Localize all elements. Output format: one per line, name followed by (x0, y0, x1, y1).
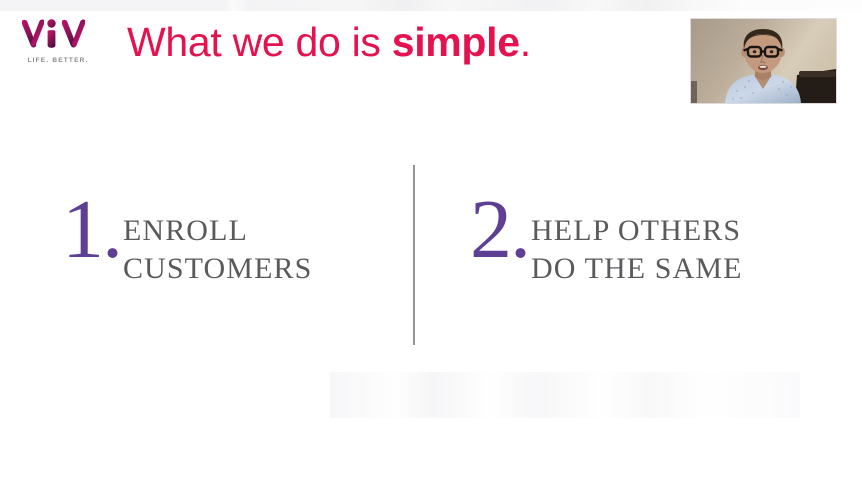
top-ghost-band (0, 0, 862, 11)
presenter-video-frame (691, 19, 836, 103)
step-item-2: 2. HELP OTHERS DO THE SAME (470, 202, 743, 289)
title-regular-text: What we do is (127, 19, 392, 65)
viv-logo-mark (16, 18, 100, 54)
step-number-1: 1. (62, 196, 121, 265)
presenter-video-thumbnail[interactable] (690, 18, 837, 104)
slide-body: 1. ENROLL CUSTOMERS 2. HELP OTHERS DO TH… (0, 150, 862, 360)
viv-logo: LIFE. BETTER. (16, 18, 100, 74)
presentation-slide: LIFE. BETTER. What we do is simple. (0, 0, 862, 485)
slide-title: What we do is simple. (127, 18, 531, 66)
title-bold-text: simple (392, 19, 520, 65)
lower-ghost-artifact (330, 372, 800, 418)
step-number-2: 2. (470, 196, 529, 265)
title-period: . (520, 19, 531, 65)
step-label-1: ENROLL CUSTOMERS (123, 202, 312, 289)
vertical-divider (413, 165, 415, 345)
step-label-2: HELP OTHERS DO THE SAME (531, 202, 743, 289)
logo-tagline: LIFE. BETTER. (16, 57, 100, 64)
step-item-1: 1. ENROLL CUSTOMERS (62, 202, 312, 289)
